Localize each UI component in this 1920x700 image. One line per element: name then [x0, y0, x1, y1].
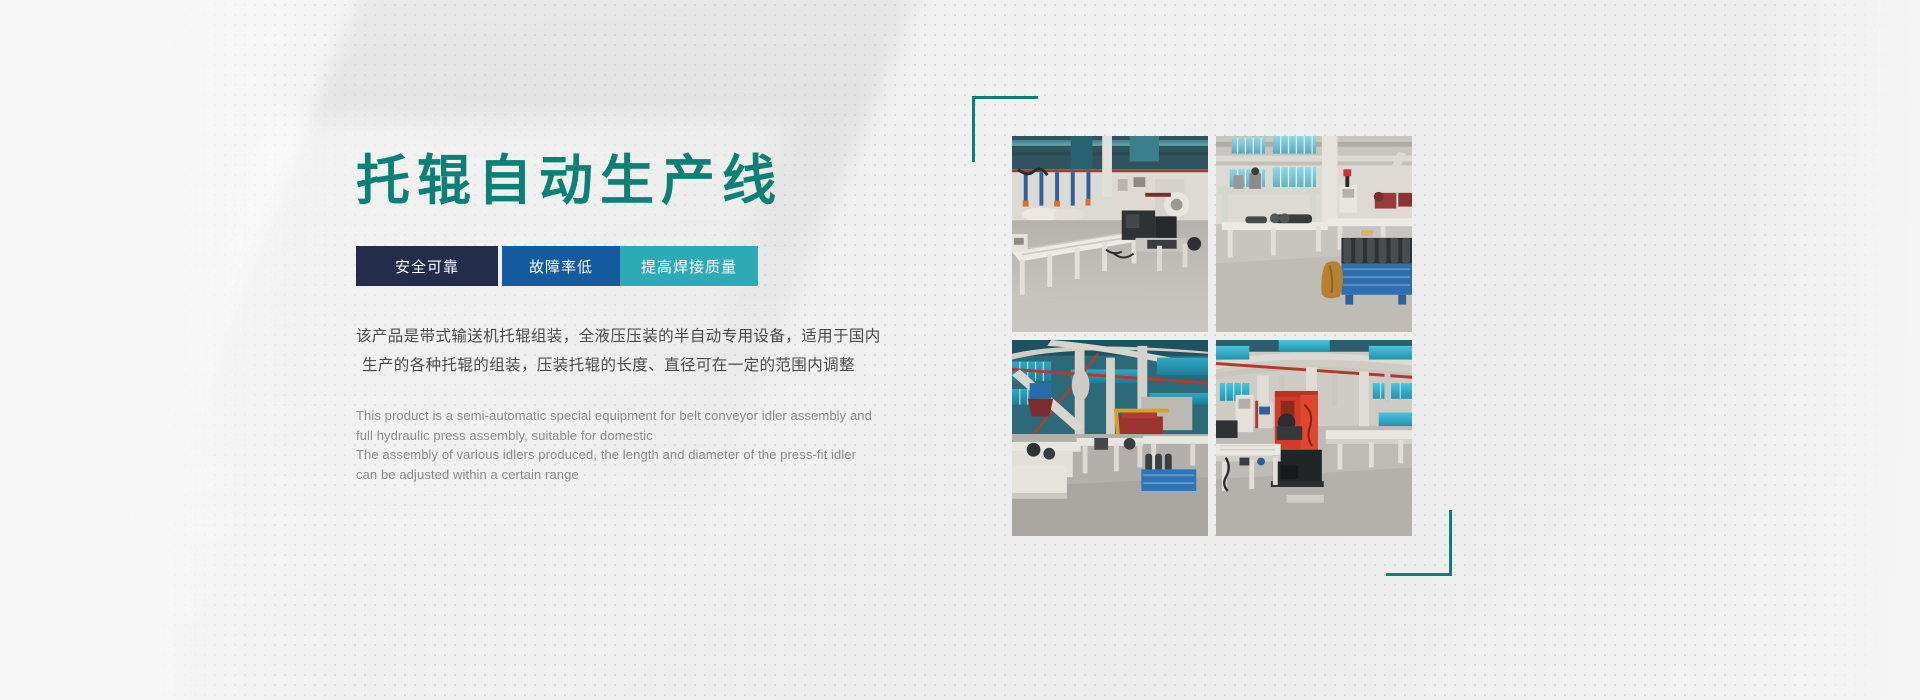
right-edge-fade	[1740, 0, 1920, 700]
description-english-line-2: full hydraulic press assembly, suitable …	[356, 426, 916, 446]
page-title: 托辊自动生产线	[356, 150, 956, 212]
description-english-line-1: This product is a semi-automatic special…	[356, 406, 916, 426]
gallery-photo-4[interactable]	[1216, 340, 1412, 536]
product-banner: 托辊自动生产线 安全可靠 故障率低 提高焊接质量 该产品是带式输送机托辊组装，全…	[0, 0, 1920, 700]
photo-gallery	[1012, 136, 1412, 536]
description-english: This product is a semi-automatic special…	[356, 406, 916, 484]
feature-badge-safety[interactable]: 安全可靠	[356, 246, 498, 286]
description-chinese: 该产品是带式输送机托辊组装，全液压压装的半自动专用设备，适用于国内 生产的各种托…	[356, 322, 916, 380]
gallery-photo-2[interactable]	[1216, 136, 1412, 332]
feature-badge-weld-quality[interactable]: 提高焊接质量	[620, 246, 758, 286]
gallery-photo-1[interactable]	[1012, 136, 1208, 332]
description-english-line-3: The assembly of various idlers produced,…	[356, 445, 916, 465]
left-edge-fade	[0, 0, 330, 700]
description-chinese-line-1: 该产品是带式输送机托辊组装，全液压压装的半自动专用设备，适用于国内	[356, 322, 916, 351]
gallery-photo-3[interactable]	[1012, 340, 1208, 536]
feature-badge-failure-rate[interactable]: 故障率低	[502, 246, 620, 286]
description-english-line-4: can be adjusted within a certain range	[356, 465, 916, 485]
description-chinese-line-2: 生产的各种托辊的组装，压装托辊的长度、直径可在一定的范围内调整	[356, 351, 916, 380]
banner-text-column: 托辊自动生产线 安全可靠 故障率低 提高焊接质量 该产品是带式输送机托辊组装，全…	[356, 150, 956, 484]
photo-grid	[1012, 136, 1412, 536]
feature-badge-group: 安全可靠 故障率低 提高焊接质量	[356, 246, 956, 286]
